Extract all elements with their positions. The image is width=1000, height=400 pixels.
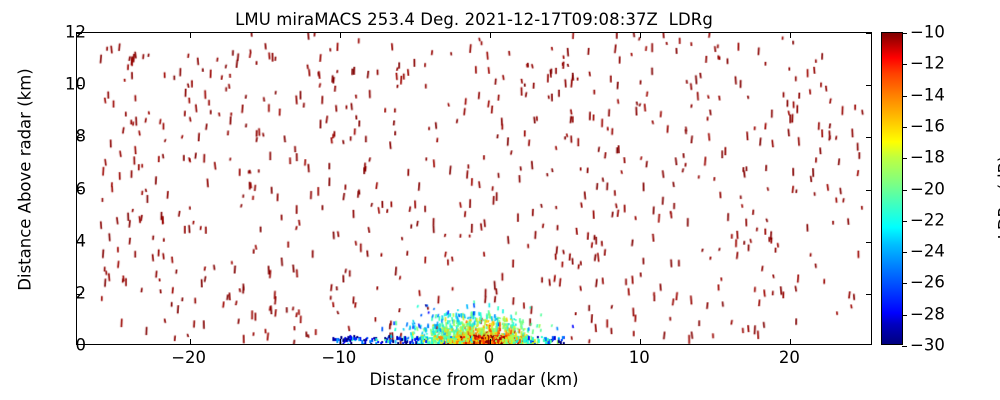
colorbar-tick-label: −20 [910, 179, 945, 198]
y-axis-label: Distance Above radar (km) [16, 30, 35, 330]
colorbar-tick-label: −16 [910, 116, 945, 135]
colorbar-tick [902, 190, 907, 191]
colorbar-tick-label: −18 [910, 148, 945, 167]
x-tick-label: 20 [779, 348, 800, 367]
y-tick [866, 242, 871, 243]
colorbar-tick [902, 96, 907, 97]
colorbar[interactable] [881, 32, 903, 345]
scatter-plot-area [77, 33, 871, 344]
colorbar-tick [902, 33, 907, 34]
y-tick [866, 85, 871, 86]
x-tick [340, 339, 341, 344]
y-tick-label: 10 [65, 75, 86, 94]
colorbar-tick-label: −10 [910, 23, 945, 42]
y-tick-label: 12 [65, 23, 86, 42]
colorbar-label: LDRg (dB) [996, 48, 1000, 348]
colorbar-tick [902, 221, 907, 222]
x-tick [790, 339, 791, 344]
y-tick-label: 8 [76, 127, 87, 146]
colorbar-tick [902, 346, 907, 347]
plot-axes[interactable] [76, 32, 872, 345]
colorbar-tick-label: −28 [910, 304, 945, 323]
y-tick-label: 2 [76, 283, 87, 302]
x-tick-label: 0 [484, 348, 495, 367]
colorbar-tick-label: −14 [910, 85, 945, 104]
x-tick [490, 339, 491, 344]
colorbar-tick-label: −24 [910, 242, 945, 261]
x-tick-label: −20 [171, 348, 206, 367]
page-title: LMU miraMACS 253.4 Deg. 2021-12-17T09:08… [0, 10, 948, 29]
y-tick [866, 137, 871, 138]
x-tick-label: −10 [321, 348, 356, 367]
x-tick [190, 339, 191, 344]
y-tick-label: 0 [76, 336, 87, 355]
y-tick [866, 294, 871, 295]
y-tick-label: 4 [76, 231, 87, 250]
y-tick-label: 6 [76, 179, 87, 198]
colorbar-tick-label: −30 [910, 336, 945, 355]
colorbar-tick [902, 64, 907, 65]
x-tick [640, 339, 641, 344]
colorbar-tick-label: −12 [910, 54, 945, 73]
colorbar-tick [902, 127, 907, 128]
x-axis-label: Distance from radar (km) [76, 370, 872, 389]
colorbar-tick [902, 315, 907, 316]
x-tick [640, 33, 641, 38]
colorbar-tick-label: −22 [910, 210, 945, 229]
colorbar-tick-label: −26 [910, 273, 945, 292]
colorbar-tick [902, 158, 907, 159]
x-tick [190, 33, 191, 38]
x-tick-label: 10 [629, 348, 650, 367]
x-tick [790, 33, 791, 38]
y-tick [866, 33, 871, 34]
y-tick [866, 190, 871, 191]
colorbar-tick [902, 283, 907, 284]
x-tick [340, 33, 341, 38]
figure-canvas: LMU miraMACS 253.4 Deg. 2021-12-17T09:08… [0, 0, 1000, 400]
x-tick [490, 33, 491, 38]
colorbar-tick [902, 252, 907, 253]
